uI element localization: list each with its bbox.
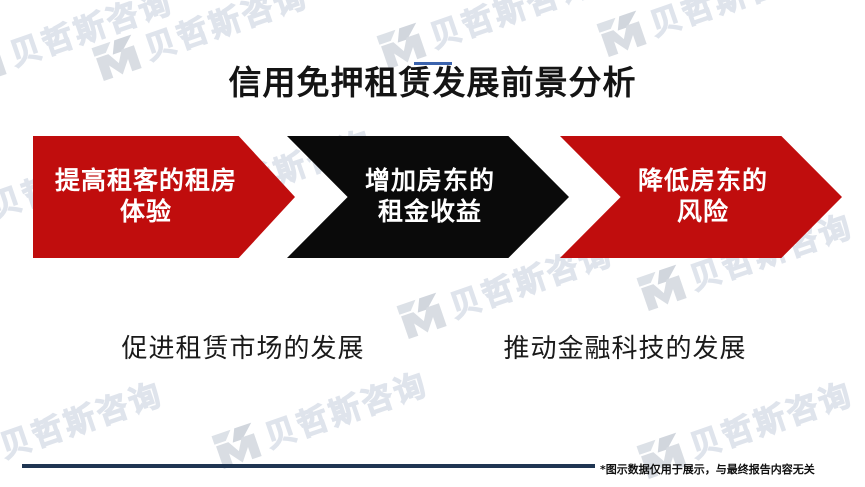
watermark-text: 贝哲斯咨询 (683, 369, 858, 467)
chevron-step-1[interactable]: 提高租客的租房 体验 (33, 136, 295, 258)
slide-canvas: 贝哲斯咨询贝哲斯咨询贝哲斯咨询贝哲斯咨询贝哲斯咨询贝哲斯咨询贝哲斯咨询贝哲斯咨询… (0, 0, 865, 487)
watermark-stamp: 贝哲斯咨询 (208, 359, 434, 474)
footer-note: *图示数据仅用于展示，与最终报告内容无关 (600, 461, 815, 477)
chevron-step-2-label: 增加房东的 租金收益 (365, 166, 495, 228)
beizhesi-logo-icon (593, 7, 650, 60)
caption-left: 促进租赁市场的发展 (78, 328, 408, 365)
chevron-process-row: 提高租客的租房 体验 增加房东的 租金收益 降低房东的 风险 (0, 136, 865, 258)
chevron-step-2[interactable]: 增加房东的 租金收益 (287, 136, 569, 258)
chevron-step-3-label: 降低房东的 风险 (638, 166, 768, 228)
beizhesi-logo-icon (633, 261, 690, 314)
caption-right: 推动金融科技的发展 (455, 328, 795, 365)
chevron-step-3[interactable]: 降低房东的 风险 (560, 136, 842, 258)
watermark-text: 贝哲斯咨询 (258, 359, 433, 457)
chevron-step-1-label: 提高租客的租房 体验 (55, 166, 237, 228)
watermark-text: 贝哲斯咨询 (643, 0, 818, 45)
footer-divider (22, 464, 595, 468)
title-underline-artifact (414, 62, 452, 65)
watermark-text: 贝哲斯咨询 (423, 0, 598, 57)
watermark-text: 贝哲斯咨询 (0, 369, 168, 467)
watermark-stamp: 贝哲斯咨询 (593, 0, 819, 62)
